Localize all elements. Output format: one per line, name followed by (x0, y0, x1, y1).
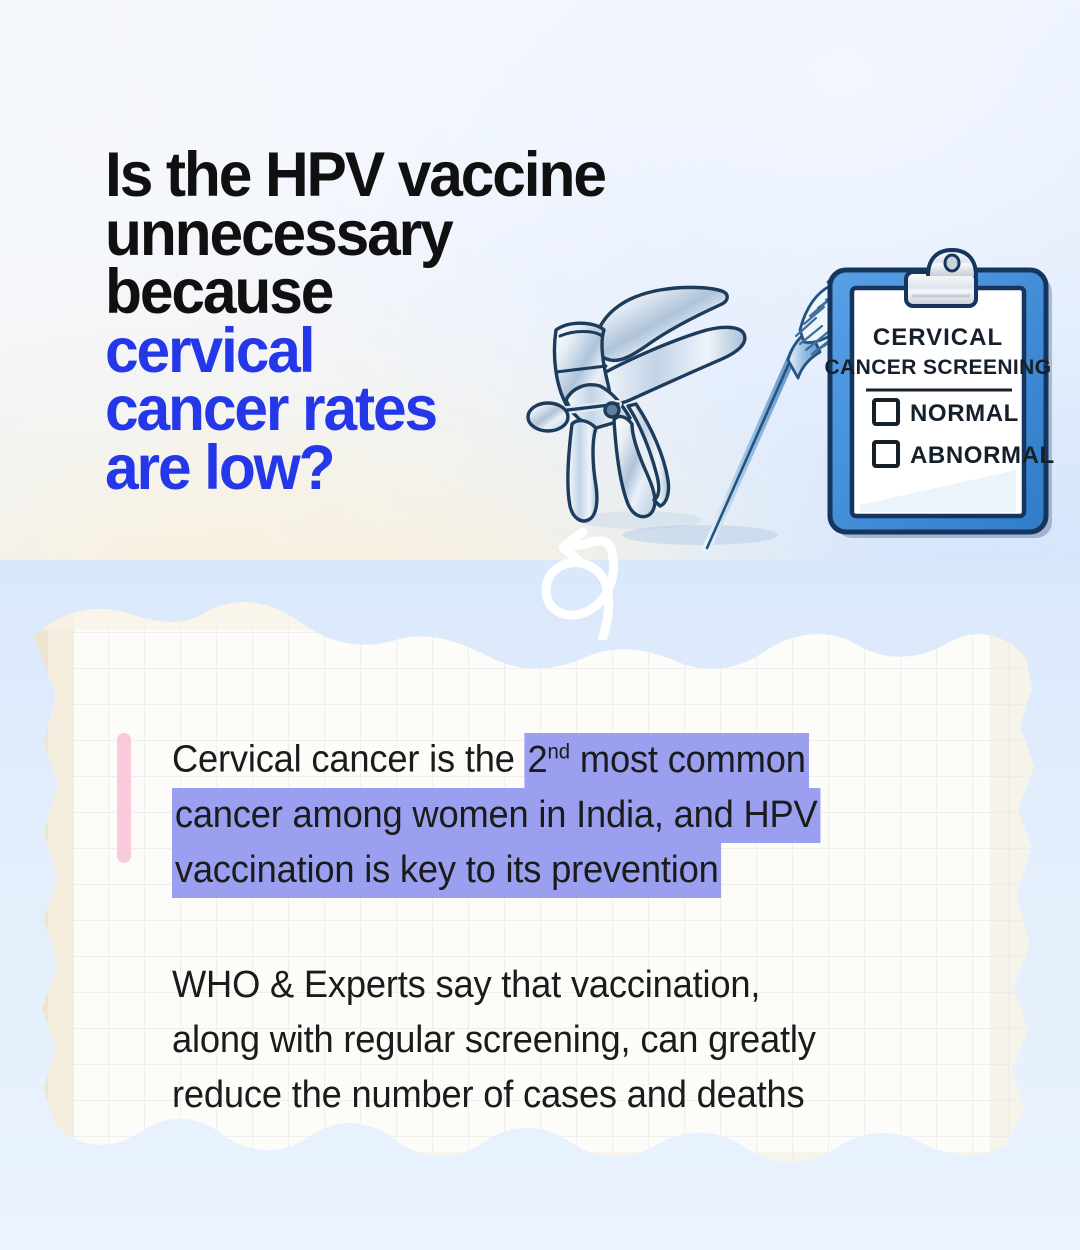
headline-line-6: are low? (105, 439, 739, 498)
paragraph-primary: Cervical cancer is the 2nd most common c… (172, 724, 965, 898)
infographic-canvas: Is the HPV vaccine unnecessary because c… (0, 0, 1080, 1250)
paragraph-secondary-line-3: reduce the number of cases and deaths (172, 1068, 965, 1123)
headline-line-1: Is the HPV vaccine (105, 146, 739, 205)
paragraph-secondary-line-1: WHO & Experts say that vaccination, (172, 958, 965, 1013)
paragraph-primary-line-2: cancer among women in India, and HPV (172, 788, 965, 843)
ordinal-suffix: nd (547, 739, 570, 763)
paragraph-secondary: WHO & Experts say that vaccination, alon… (172, 958, 965, 1123)
paragraph-primary-highlight-1: 2nd most common (525, 733, 809, 788)
paragraph-primary-plain: Cervical cancer is the (172, 739, 525, 781)
paragraph-primary-line-3: vaccination is key to its prevention (172, 843, 965, 898)
paragraph-primary-highlight-1-rest: most common (570, 739, 806, 781)
ordinal-number: 2 (527, 739, 547, 781)
headline-line-2: unnecessary (105, 205, 739, 264)
headline-line-3: because (105, 263, 739, 322)
headline-line-5: cancer rates (105, 380, 739, 439)
page-title: Is the HPV vaccine unnecessary because c… (105, 146, 739, 497)
accent-bar (117, 733, 131, 863)
paragraph-primary-highlight-2: cancer among women in India, and HPV (172, 788, 820, 843)
paragraph-secondary-line-2: along with regular screening, can greatl… (172, 1013, 965, 1068)
headline-line-4: cervical (105, 322, 739, 381)
paragraph-primary-line-1: Cervical cancer is the 2nd most common (172, 724, 965, 788)
paragraph-primary-highlight-3: vaccination is key to its prevention (172, 843, 722, 898)
